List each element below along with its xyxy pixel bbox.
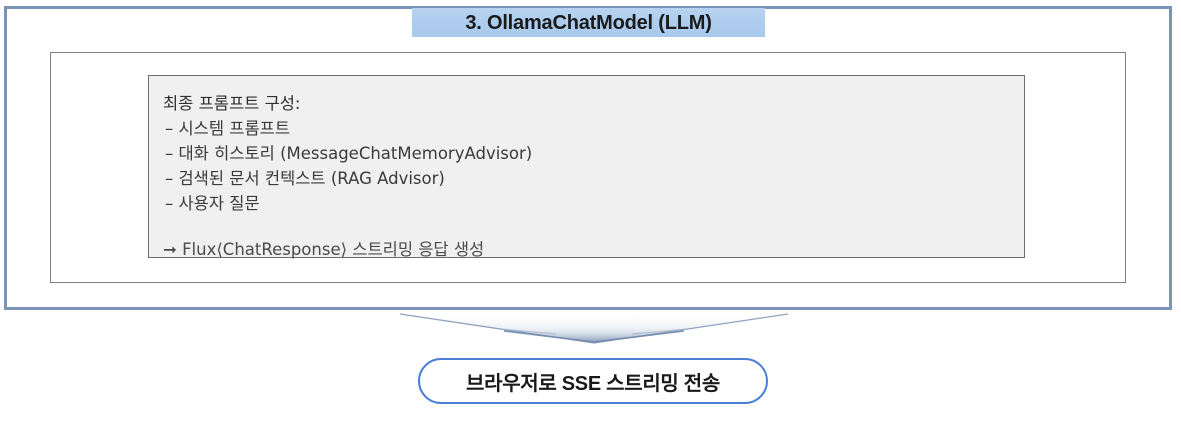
prompt-heading: 최종 프롬프트 구성: xyxy=(163,91,1024,116)
stage-title-text: 3. OllamaChatModel (LLM) xyxy=(465,13,711,33)
prompt-item-context: – 검색된 문서 컨텍스트 (RAG Advisor) xyxy=(163,166,1024,191)
prompt-item-question: – 사용자 질문 xyxy=(163,191,1024,216)
prompt-item-system: – 시스템 프롬프트 xyxy=(163,116,1024,141)
prompt-composition-box: 최종 프롬프트 구성: – 시스템 프롬프트 – 대화 히스토리 (Messag… xyxy=(148,75,1025,258)
prompt-item-history: – 대화 히스토리 (MessageChatMemoryAdvisor) xyxy=(163,141,1024,166)
sse-streaming-label: 브라우저로 SSE 스트리밍 전송 xyxy=(466,367,720,396)
prompt-result-line: ➞ Flux⟨ChatResponse⟩ 스트리밍 응답 생성 xyxy=(163,237,1024,262)
stage-title-banner: 3. OllamaChatModel (LLM) xyxy=(412,8,765,37)
sse-streaming-pill: 브라우저로 SSE 스트리밍 전송 xyxy=(418,358,768,404)
prompt-spacer xyxy=(163,216,1024,237)
prompt-composition-content: 최종 프롬프트 구성: – 시스템 프롬프트 – 대화 히스토리 (Messag… xyxy=(149,76,1024,262)
down-chevron-arrow-icon xyxy=(396,312,792,348)
